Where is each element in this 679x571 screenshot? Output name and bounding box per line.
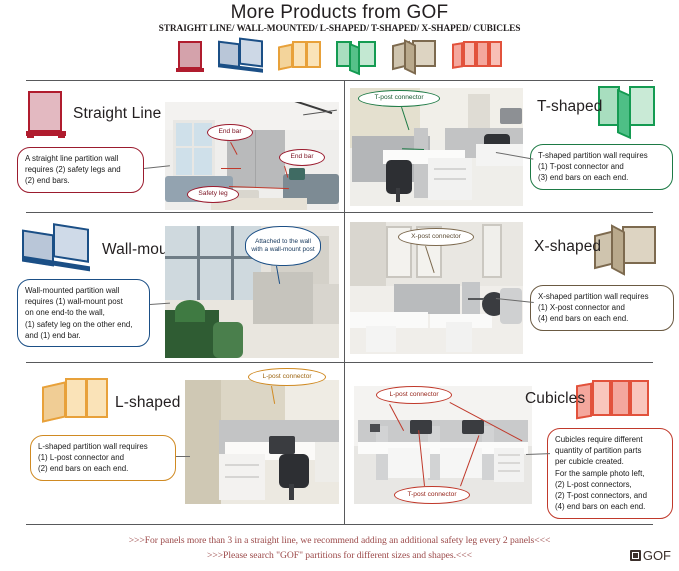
note-leader-line — [176, 456, 190, 457]
divider-bottom — [26, 524, 653, 525]
x-post-connector-callout: X-post connector — [398, 228, 474, 246]
swatch-row — [0, 33, 679, 75]
straight-line-note: A straight line partition wall requires … — [17, 147, 144, 193]
l-shaped-photo — [185, 380, 339, 504]
l-shaped-label: L-shaped — [115, 394, 180, 412]
x-shaped-icon — [594, 224, 658, 282]
cubicles-swatch-icon — [452, 39, 504, 75]
l-shaped-icon — [42, 376, 108, 428]
x-shaped-note: X-shaped partition wall requires (1) X-p… — [530, 285, 674, 331]
t-post-connector-callout: T-post connector — [394, 486, 470, 504]
cubicles-label: Cubicles — [525, 390, 585, 408]
cubicles-icon — [576, 378, 654, 426]
t-shaped-icon — [598, 86, 656, 144]
straight-line-label: Straight Line — [73, 105, 161, 123]
page-title: More Products from GOF — [0, 2, 679, 24]
straight-line-swatch-icon — [176, 39, 204, 75]
l-post-connector-callout: L-post connector — [376, 386, 452, 404]
t-shaped-photo: T-post connector — [350, 88, 523, 206]
section-l-shaped: L-shaped L-shaped partition wall require… — [0, 362, 344, 524]
section-cubicles: L-post connector T-post connector Cubicl… — [344, 362, 679, 524]
wall-mounted-swatch-icon — [218, 39, 264, 75]
gof-logo: GOF — [630, 548, 671, 563]
l-shaped-swatch-icon — [278, 39, 322, 75]
leader-line — [221, 168, 241, 169]
t-shaped-swatch-icon — [336, 39, 378, 75]
straight-line-icon — [26, 91, 66, 143]
t-post-connector-callout: T-post connector — [358, 90, 440, 107]
section-wall-mounted: Wall-mounted Wall-mounted partition wall… — [0, 212, 344, 362]
straight-line-photo: End bar End bar Safety leg — [165, 102, 339, 210]
footer-line-2: >>>Please search "GOF" partitions for di… — [0, 550, 679, 561]
product-info-graphic: More Products from GOF STRAIGHT LINE/ WA… — [0, 0, 679, 571]
section-x-shaped: X-post connector X-shaped X-shaped parti… — [344, 212, 679, 362]
wall-mounted-icon — [22, 226, 92, 274]
gof-logo-text: GOF — [643, 548, 671, 563]
wall-mounted-note: Wall-mounted partition wall requires (1)… — [17, 279, 150, 347]
t-shaped-label: T-shaped — [537, 98, 602, 116]
wall-mount-post-callout: Attached to the wall with a wall-mount p… — [245, 226, 321, 266]
footer-line-1: >>>For panels more than 3 in a straight … — [0, 535, 679, 546]
x-shaped-label: X-shaped — [534, 238, 601, 256]
x-shaped-photo: X-post connector — [350, 222, 523, 354]
wall-mounted-photo: Attached to the wall with a wall-mount p… — [165, 226, 339, 358]
end-bar-callout-1: End bar — [207, 124, 253, 141]
end-bar-callout-2: End bar — [279, 149, 325, 166]
l-post-connector-callout: L-post connector — [248, 368, 326, 386]
section-t-shaped: T-post connector T-shaped T-shaped parti… — [344, 80, 679, 212]
x-shaped-swatch-icon — [392, 39, 438, 75]
section-straight-line: Straight Line A straight line partition … — [0, 80, 344, 212]
cubicles-photo: L-post connector T-post connector — [354, 386, 532, 504]
t-shaped-note: T-shaped partition wall requires (1) T-p… — [530, 144, 673, 190]
safety-leg-callout: Safety leg — [187, 186, 239, 203]
cubicles-note: Cubicles require different quantity of p… — [547, 428, 673, 519]
l-shaped-note: L-shaped partition wall requires (1) L-p… — [30, 435, 176, 481]
gof-logo-icon — [630, 550, 641, 561]
